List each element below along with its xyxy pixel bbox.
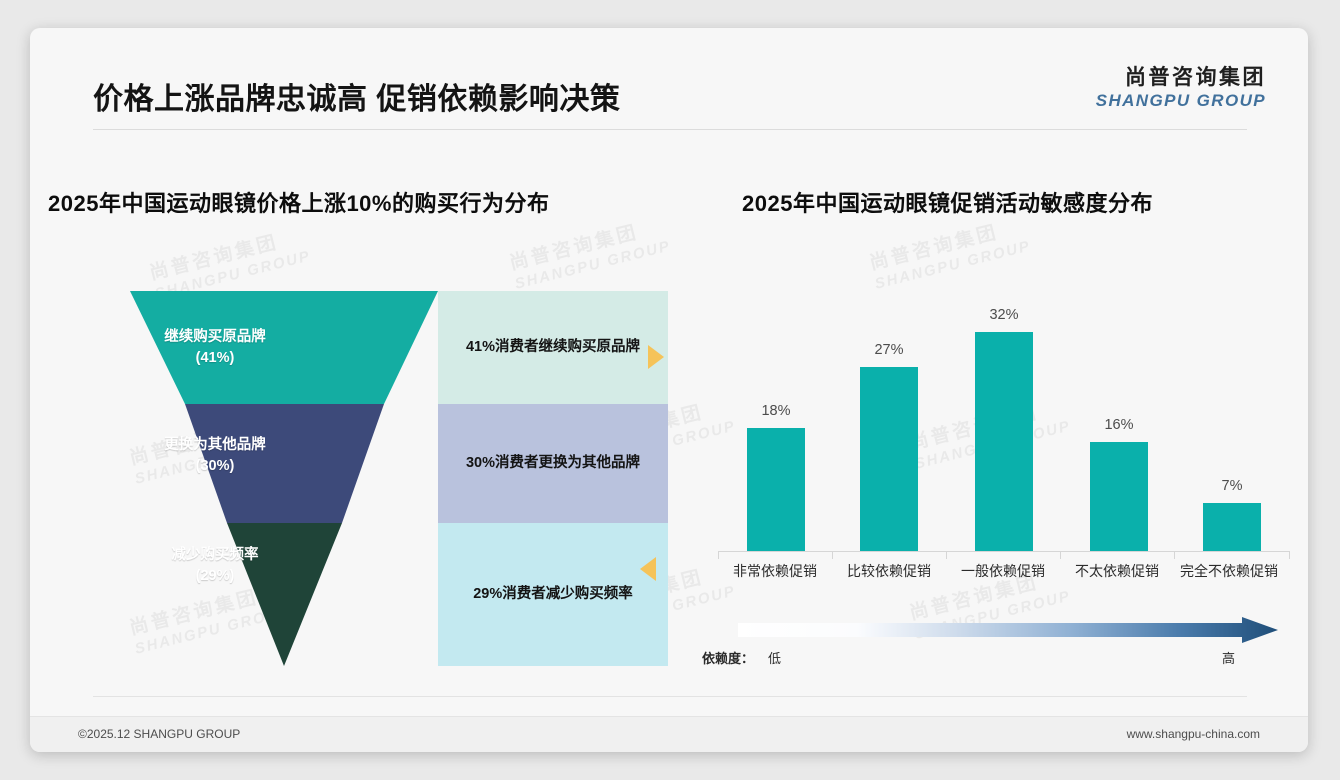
funnel-segment-label-2: 更换为其他品牌 (30%) xyxy=(100,435,330,477)
bar-rect xyxy=(1203,503,1261,551)
funnel-info-panel-1: 41%消费者继续购买原品牌 xyxy=(438,291,668,404)
marker-arrow-left-icon xyxy=(640,557,656,581)
bar-column: 32% xyxy=(975,307,1033,551)
bar-column: 27% xyxy=(860,342,918,551)
legend-high-label: 高 xyxy=(1222,648,1235,667)
funnel-info-panel-2: 30%消费者更换为其他品牌 xyxy=(438,404,668,523)
watermark-cn: 尚普咨询集团 xyxy=(867,214,1028,276)
funnel-info-text-3: 29%消费者减少购买频率 xyxy=(457,581,649,608)
page-header: 价格上涨品牌忠诚高 促销依赖影响决策 尚普咨询集团 SHANGPU GROUP xyxy=(30,28,1308,130)
logo-text-cn: 尚普咨询集团 xyxy=(1096,66,1266,90)
brand-logo: 尚普咨询集团 SHANGPU GROUP xyxy=(1096,66,1266,112)
page-footer: ©2025.12 SHANGPU GROUP www.shangpu-china… xyxy=(30,716,1308,752)
x-axis-tick xyxy=(946,552,947,559)
header-divider xyxy=(93,129,1247,130)
bar-chart: 18% 27% 32% 16% 7% 非常依赖促销 比较依赖促销 一般依赖 xyxy=(690,278,1290,598)
bar-rect xyxy=(1090,442,1148,551)
funnel-info-panel-3: 29%消费者减少购买频率 xyxy=(438,523,668,666)
x-axis-line xyxy=(718,551,1290,552)
bar-value-label: 18% xyxy=(761,403,790,419)
x-axis-category-label: 非常依赖促销 xyxy=(715,561,835,581)
bar-rect xyxy=(747,428,805,551)
footnote-divider xyxy=(93,696,1247,697)
footer-copyright: ©2025.12 SHANGPU GROUP xyxy=(78,727,240,741)
bar-value-label: 27% xyxy=(874,342,903,358)
gradient-arrow-icon xyxy=(690,616,1290,650)
legend-low-label: 低 xyxy=(768,648,781,667)
funnel-chart: 继续购买原品牌 (41%) 更换为其他品牌 (30%) 减少购买频率 (29%)… xyxy=(100,261,668,673)
x-axis-tick xyxy=(832,552,833,559)
bar-value-label: 7% xyxy=(1222,478,1243,494)
dependency-legend: 依赖度： 低 高 xyxy=(690,616,1290,678)
funnel-segment-label-1: 继续购买原品牌 (41%) xyxy=(100,327,330,369)
bar-column: 16% xyxy=(1090,417,1148,551)
x-axis-tick xyxy=(1174,552,1175,559)
funnel-info-text-1: 41%消费者继续购买原品牌 xyxy=(450,334,656,361)
page-title: 价格上涨品牌忠诚高 促销依赖影响决策 xyxy=(93,74,620,118)
legend-title: 依赖度： xyxy=(702,648,754,667)
bar-rect xyxy=(860,367,918,551)
left-chart-subtitle: 2025年中国运动眼镜价格上涨10%的购买行为分布 xyxy=(48,186,549,218)
slide-page: 尚普咨询集团 SHANGPU GROUP 尚普咨询集团 SHANGPU GROU… xyxy=(30,28,1308,752)
marker-arrow-right-icon xyxy=(648,345,664,369)
x-axis-tick xyxy=(1060,552,1061,559)
x-axis-tick xyxy=(718,552,719,559)
bar-column: 18% xyxy=(747,403,805,551)
x-axis-category-label: 比较依赖促销 xyxy=(829,561,949,581)
funnel-segment-label-3: 减少购买频率 (29%) xyxy=(100,545,330,587)
bar-column: 7% xyxy=(1203,478,1261,551)
bar-value-label: 32% xyxy=(989,307,1018,323)
footer-website[interactable]: www.shangpu-china.com xyxy=(1127,727,1260,741)
x-axis-category-label: 完全不依赖促销 xyxy=(1164,561,1294,581)
x-axis-category-label: 不太依赖促销 xyxy=(1057,561,1177,581)
x-axis-tick xyxy=(1289,552,1290,559)
bar-rect xyxy=(975,332,1033,551)
logo-text-en: SHANGPU GROUP xyxy=(1096,91,1266,111)
x-axis-category-label: 一般依赖促销 xyxy=(943,561,1063,581)
right-chart-subtitle: 2025年中国运动眼镜促销活动敏感度分布 xyxy=(742,186,1153,218)
bar-value-label: 16% xyxy=(1104,417,1133,433)
funnel-info-text-2: 30%消费者更换为其他品牌 xyxy=(450,450,656,477)
